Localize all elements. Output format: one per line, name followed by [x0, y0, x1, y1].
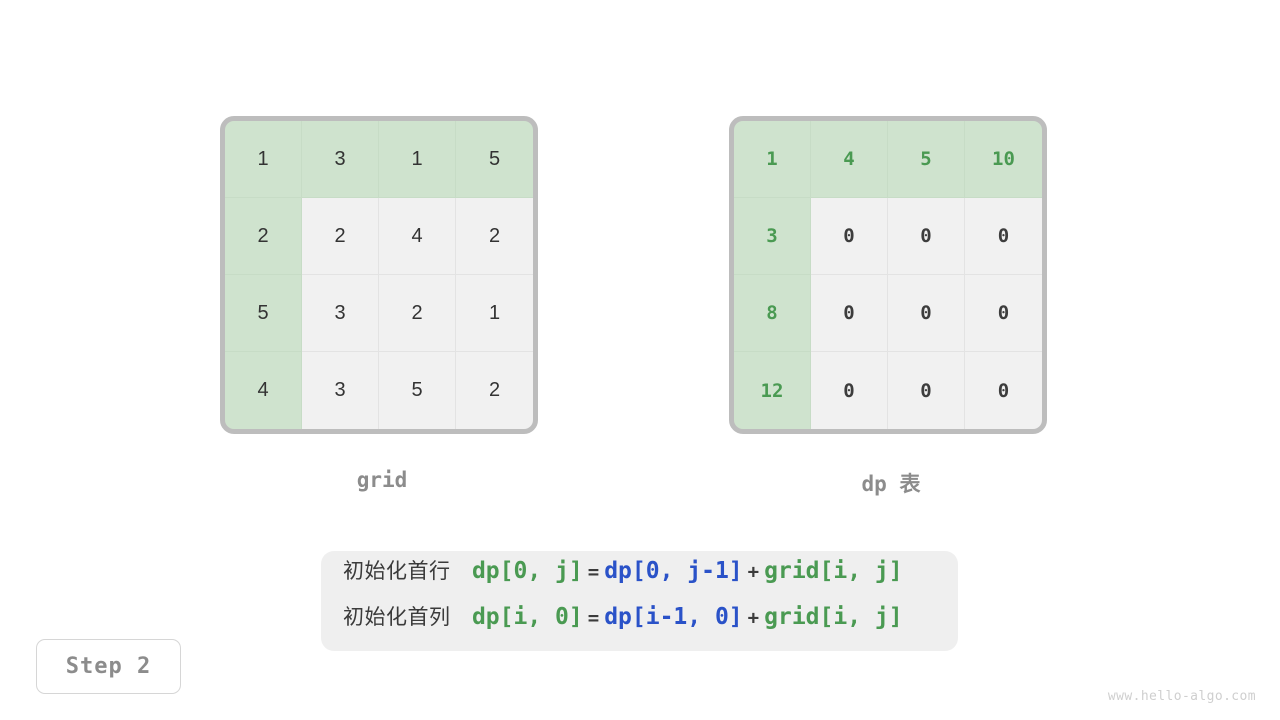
formula-line-first-row: 初始化首行 dp[0, j] = dp[0, j-1] + grid[i, j]	[343, 555, 958, 601]
formula-label-first-row: 初始化首行	[343, 555, 451, 585]
dp-cell-3-2: 0	[888, 352, 965, 429]
grid-cell-3-1: 3	[302, 352, 379, 429]
formula-equals-first-col: =	[583, 607, 604, 629]
grid-cell-2-3: 1	[456, 275, 533, 352]
dp-cell-1-1: 0	[811, 198, 888, 275]
dp-cell-0-2: 5	[888, 121, 965, 198]
dp-cell-3-0: 12	[734, 352, 811, 429]
step-badge: Step 2	[36, 639, 181, 694]
dp-cell-0-1: 4	[811, 121, 888, 198]
watermark: www.hello-algo.com	[1108, 689, 1256, 704]
formula-line-first-col: 初始化首列 dp[i, 0] = dp[i-1, 0] + grid[i, j]	[343, 601, 958, 647]
grid-cell-2-2: 2	[379, 275, 456, 352]
formula-lhs-first-col: dp[i, 0]	[472, 604, 583, 630]
formula-lhs-first-row: dp[0, j]	[472, 558, 583, 584]
dp-cell-1-2: 0	[888, 198, 965, 275]
dp-cell-3-3: 0	[965, 352, 1042, 429]
formula-plus-first-row: +	[743, 561, 764, 583]
grid-cell-1-0: 2	[225, 198, 302, 275]
grid-cell-0-3: 5	[456, 121, 533, 198]
grid-cell-3-2: 5	[379, 352, 456, 429]
formula-spacer-2	[451, 607, 472, 629]
dp-table-caption: dp 表	[726, 468, 1056, 498]
grid-cell-0-1: 3	[302, 121, 379, 198]
dp-cell-1-3: 0	[965, 198, 1042, 275]
formula-rhs1-first-row: dp[0, j-1]	[604, 558, 742, 584]
grid-cell-1-2: 4	[379, 198, 456, 275]
dp-cell-0-0: 1	[734, 121, 811, 198]
formula-box: 初始化首行 dp[0, j] = dp[0, j-1] + grid[i, j]…	[321, 551, 958, 651]
grid-cell-1-1: 2	[302, 198, 379, 275]
dp-cell-2-3: 0	[965, 275, 1042, 352]
formula-plus-first-col: +	[743, 607, 764, 629]
grid-cell-3-3: 2	[456, 352, 533, 429]
formula-rhs2-first-col: grid[i, j]	[764, 604, 902, 630]
dp-matrix: 145103000800012000	[729, 116, 1047, 434]
formula-equals-first-row: =	[583, 561, 604, 583]
formula-label-first-col: 初始化首列	[343, 601, 451, 631]
grid-cell-0-2: 1	[379, 121, 456, 198]
formula-rhs2-first-row: grid[i, j]	[764, 558, 902, 584]
grid-cell-1-3: 2	[456, 198, 533, 275]
grid-caption: grid	[217, 468, 547, 492]
grid-cell-2-0: 5	[225, 275, 302, 352]
grid-cell-0-0: 1	[225, 121, 302, 198]
dp-cell-3-1: 0	[811, 352, 888, 429]
dp-cell-2-2: 0	[888, 275, 965, 352]
grid-cell-2-1: 3	[302, 275, 379, 352]
grid-matrix: 1315224253214352	[220, 116, 538, 434]
grid-cell-3-0: 4	[225, 352, 302, 429]
dp-cell-1-0: 3	[734, 198, 811, 275]
dp-cell-2-0: 8	[734, 275, 811, 352]
formula-rhs1-first-col: dp[i-1, 0]	[604, 604, 742, 630]
formula-spacer-1	[451, 561, 472, 583]
dp-cell-2-1: 0	[811, 275, 888, 352]
dp-cell-0-3: 10	[965, 121, 1042, 198]
